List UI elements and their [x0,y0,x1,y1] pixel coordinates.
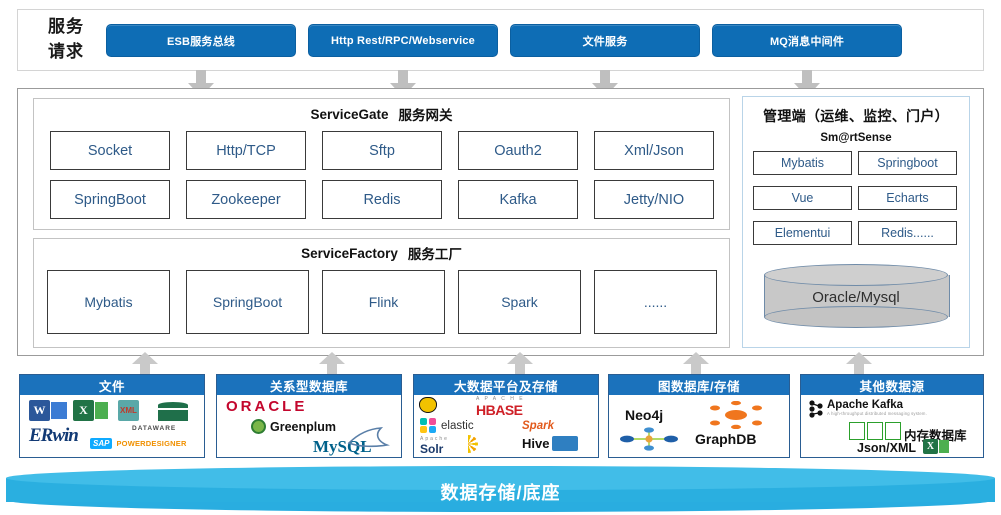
gate-cell-redis[interactable]: Redis [322,180,442,219]
service-factory-title-cn: 服务工厂 [408,243,462,263]
word-icon: W [29,400,50,421]
mgmt-cell-vue[interactable]: Vue [753,186,852,210]
graphdb-logo: GraphDB [695,431,756,447]
kafka-tagline: A high-throughput distributed messaging … [827,411,927,416]
erwin-logo: ERwin [29,425,78,447]
architecture-diagram: 服务 请求 ESB服务总线 Http Rest/RPC/Webservice 文… [0,0,1001,515]
database-cylinder-label: Oracle/Mysql [764,282,948,312]
kafka-icon [808,400,824,418]
data-source-body-bigdata: A P A C H E HBASE elastic Spark Apache S… [414,395,598,457]
mgmt-cell-springboot[interactable]: Springboot [858,151,957,175]
data-source-panel-graphdb[interactable]: 图数据库/存储 Neo4j GraphDB [608,374,790,458]
service-request-label-line1: 服务 [48,15,84,40]
management-panel-title: 管理端（运维、监控、门户） [742,106,970,126]
hive-bee-icon [419,397,437,413]
memory-db-grid-icon [849,422,903,440]
database-cylinder: Oracle/Mysql [764,264,948,328]
apache-hbase-logo: A P A C H E HBASE [476,396,525,418]
service-request-label-line2: 请求 [48,40,84,65]
spark-logo: Spark [522,420,554,432]
gate-cell-zookeeper[interactable]: Zookeeper [186,180,306,219]
factory-cell-mybatis[interactable]: Mybatis [47,270,170,334]
up-arrow-icon [319,352,345,374]
data-source-panel-other[interactable]: 其他数据源 Apache Kafka A high-throughput dis… [800,374,984,458]
hive-logo: Hive [522,436,578,451]
neo4j-logo: Neo4j [625,407,663,423]
mgmt-cell-echarts[interactable]: Echarts [858,186,957,210]
excel-icon: X [73,400,94,421]
data-source-header-graphdb: 图数据库/存储 [609,375,789,395]
service-request-label: 服务 请求 [30,14,102,66]
mgmt-cell-redis[interactable]: Redis...... [858,221,957,245]
gate-cell-oauth2[interactable]: Oauth2 [458,131,578,170]
data-source-panel-bigdata[interactable]: 大数据平台及存储 A P A C H E HBASE elastic Spark… [413,374,599,458]
neo4j-graph-icon [705,401,767,429]
gate-cell-jetty-nio[interactable]: Jetty/NIO [594,180,714,219]
data-source-body-graphdb: Neo4j GraphDB [609,395,789,457]
powerdesigner-logo: POWERDESIGNER [116,439,186,448]
factory-cell-more[interactable]: ...... [594,270,717,334]
service-gate-title-cn: 服务网关 [399,104,453,124]
dataware-logo: DATAWARE [132,425,176,432]
data-source-body-rdbms: ORACLE Greenplum MySQL [217,395,401,457]
up-arrow-icon [507,352,533,374]
data-source-body-other: Apache Kafka A high-throughput distribut… [801,395,983,457]
service-gate-title: ServiceGate 服务网关 [33,104,730,124]
data-storage-base: 数据存储/底座 [6,466,995,512]
service-request-button-http-rest[interactable]: Http Rest/RPC/Webservice [308,24,498,57]
greenplum-logo: Greenplum [251,419,336,434]
apache-solr-logo: Apache Solr [420,436,449,456]
service-request-button-mq[interactable]: MQ消息中间件 [712,24,902,57]
data-source-body-files: W X XML ERwin DATAWARE SAP POWERDESIGNER [20,395,204,457]
data-source-panel-rdbms[interactable]: 关系型数据库 ORACLE Greenplum MySQL [216,374,402,458]
graphdb-graph-icon [619,427,681,451]
factory-cell-springboot[interactable]: SpringBoot [186,270,309,334]
gate-cell-xml-json[interactable]: Xml/Json [594,131,714,170]
service-factory-title: ServiceFactory 服务工厂 [33,243,730,263]
data-source-header-rdbms: 关系型数据库 [217,375,401,395]
data-source-panel-files[interactable]: 文件 W X XML ERwin DATAWARE SAP [19,374,205,458]
factory-cell-spark[interactable]: Spark [458,270,581,334]
elastic-logo: elastic [420,418,474,433]
excel-icon: X [923,439,938,454]
up-arrow-icon [132,352,158,374]
data-source-header-other: 其他数据源 [801,375,983,395]
database-file-icon [158,402,188,408]
gate-cell-socket[interactable]: Socket [50,131,170,170]
oracle-logo: ORACLE [226,398,307,415]
service-factory-title-en: ServiceFactory [301,246,398,261]
gate-cell-sftp[interactable]: Sftp [322,131,442,170]
xml-file-icon: XML [118,400,139,421]
data-source-header-files: 文件 [20,375,204,395]
mgmt-cell-mybatis[interactable]: Mybatis [753,151,852,175]
management-panel-subtitle: Sm@rtSense [742,130,970,146]
json-xml-label: Json/XML [857,441,916,455]
kafka-logo: Apache Kafka [827,399,903,411]
solr-sun-icon [458,435,478,453]
mysql-dolphin-icon [347,423,391,449]
data-source-header-bigdata: 大数据平台及存储 [414,375,598,395]
sap-logo: SAP [90,438,112,449]
service-request-button-esb[interactable]: ESB服务总线 [106,24,296,57]
mgmt-cell-elementui[interactable]: Elementui [753,221,852,245]
database-file-icon [158,410,188,421]
gate-cell-springboot[interactable]: SpringBoot [50,180,170,219]
service-request-button-file-service[interactable]: 文件服务 [510,24,700,57]
factory-cell-flink[interactable]: Flink [322,270,445,334]
service-gate-title-en: ServiceGate [310,107,388,122]
up-arrow-icon [846,352,872,374]
up-arrow-icon [683,352,709,374]
data-storage-base-label: 数据存储/底座 [6,478,995,506]
gate-cell-kafka[interactable]: Kafka [458,180,578,219]
gate-cell-http-tcp[interactable]: Http/TCP [186,131,306,170]
